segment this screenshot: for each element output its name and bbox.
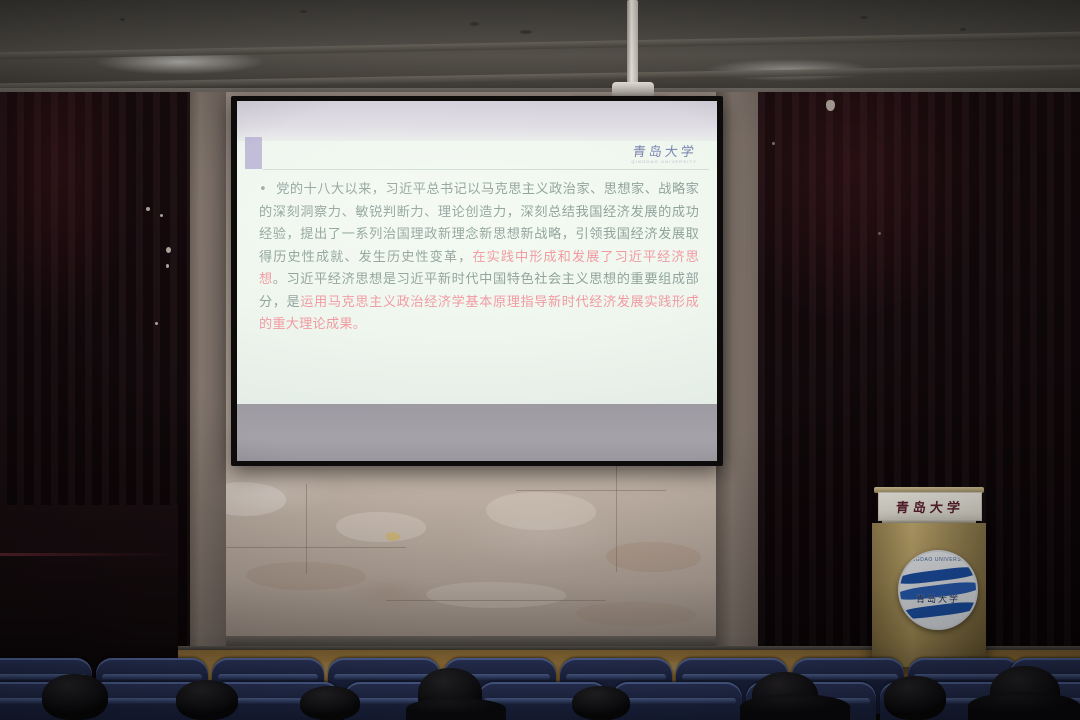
plaster-patch [576,602,696,626]
ceiling-mark [120,18,125,21]
wall-crack [226,547,406,548]
slide-divider-line [263,169,709,170]
ceiling [0,0,1080,96]
ceiling-mark [300,10,307,13]
curtain-speck [166,264,169,268]
emblem-center-text: 青岛大学 [900,592,976,605]
projection-screen-surface: 青岛大学 QINGDAO UNIVERSITY • 党的十八大以来，习近平总书记… [237,101,717,461]
screen-letterbox-band [237,404,717,461]
audience-member-shoulders [968,692,1080,720]
ceiling-rail [0,65,1080,91]
audience-member-shoulders [406,698,506,720]
emblem-ring-text: QINGDAO UNIVERSITY [900,557,976,563]
plaster-patch [336,512,426,542]
ceiling-rail [0,32,1080,60]
audience-member-head [300,686,360,720]
wall-pillar-left [186,92,226,660]
audience-member-head [572,686,630,720]
lectern-name-plate-text: 青岛大学 [895,497,965,516]
curtain-speck [166,247,171,253]
seat-band [218,674,318,680]
plaster-patch [486,492,596,530]
seat-band [618,698,736,704]
plaster-patch [606,542,701,572]
ceiling-mark [520,30,532,34]
curtain-speck [155,322,158,325]
ceiling-mark [860,16,868,19]
seat-band [798,674,898,680]
wall-crack [386,600,606,601]
wall-crack [516,490,666,491]
curtain-speck [772,142,775,145]
slide-text-highlight-2: 运用马克思主义政治经济学基本原理指导新时代经济发展实践形成的重大理论成果。 [259,295,699,333]
auditorium-seat [612,682,742,720]
curtain-speck [146,207,150,211]
audience-member-shoulders [740,694,850,720]
projector-mount-pole [627,0,638,86]
ceiling-mark [470,22,479,26]
lectern-name-plate: 青岛大学 [878,492,982,521]
slide-university-logo: 青岛大学 [632,141,698,160]
wall-stain-yellow [386,532,400,541]
slide-accent-block [245,137,262,169]
university-emblem: QINGDAO UNIVERSITY 青岛大学 [898,550,978,630]
audience-member-head [884,676,946,720]
seat-band [102,674,202,680]
projection-screen-frame: 青岛大学 QINGDAO UNIVERSITY • 党的十八大以来，习近平总书记… [231,96,723,466]
plaster-patch [426,582,566,608]
slide-body-text: • 党的十八大以来，习近平总书记以马克思主义政治家、思想家、战略家的深刻洞察力、… [259,179,699,337]
presentation-slide: 青岛大学 QINGDAO UNIVERSITY • 党的十八大以来，习近平总书记… [237,101,717,404]
ceiling-mark [960,28,966,31]
audience-seating [0,640,1080,720]
wall-crack [306,484,307,574]
audience-member-head [176,680,238,720]
lecture-hall-photo: 青岛大学 QINGDAO UNIVERSITY • 党的十八大以来，习近平总书记… [0,0,1080,720]
wall-crack [616,452,617,572]
curtain-speck [878,232,881,235]
curtain-speck [826,100,835,111]
slide-header-band [237,101,717,141]
slide-bullet-marker: • [259,182,267,197]
curtain-speck [160,214,163,217]
foreground-object-highlight [0,553,178,556]
seat-band [334,674,434,680]
slide-university-logo-subtext: QINGDAO UNIVERSITY [631,159,697,164]
audience-member-head [42,674,108,720]
seat-band [566,674,666,680]
